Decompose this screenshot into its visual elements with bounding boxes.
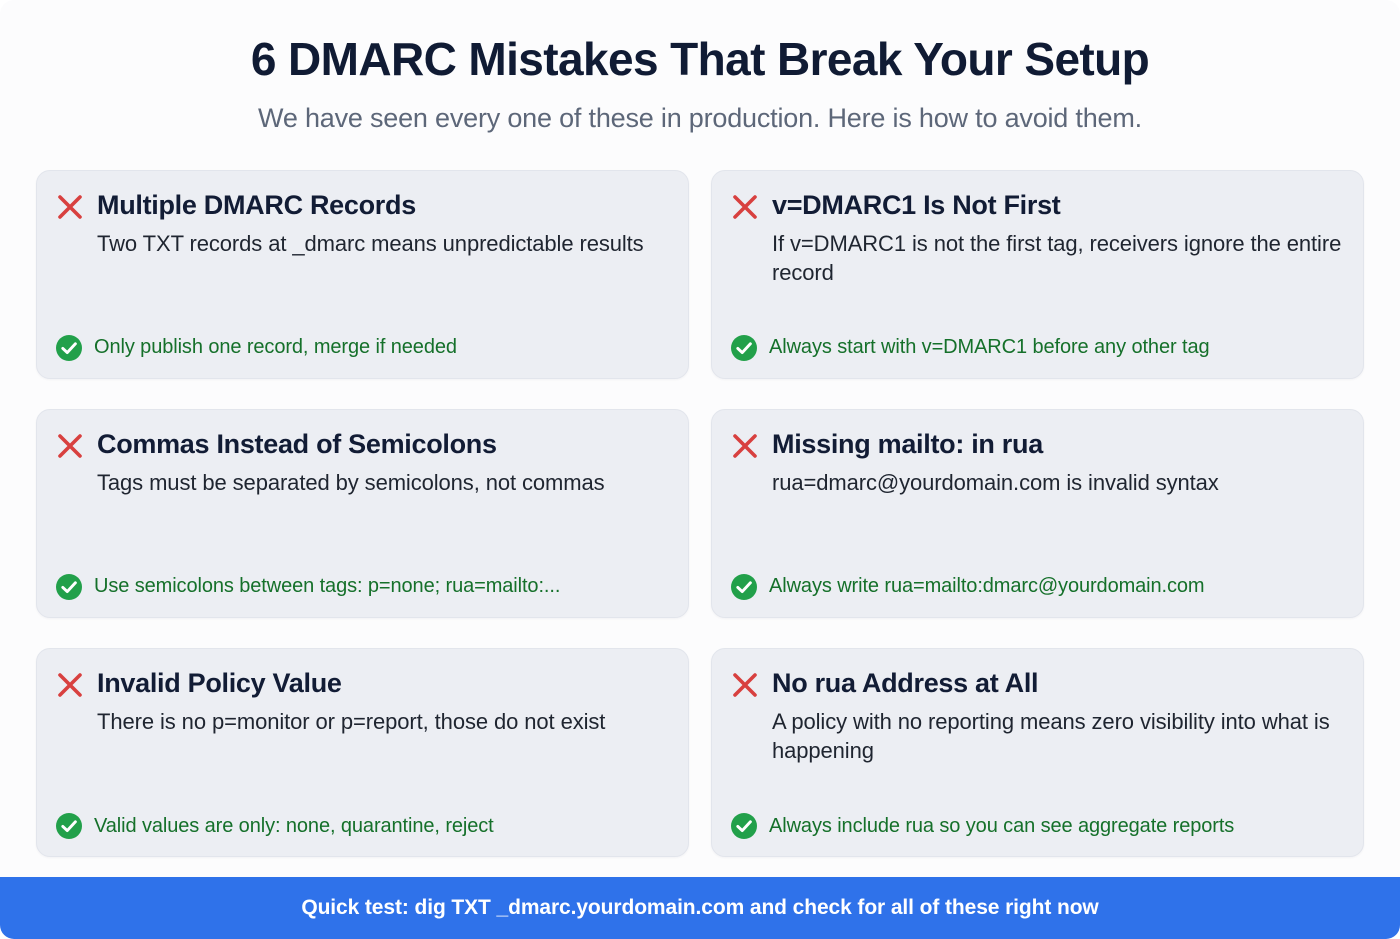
check-circle-icon	[55, 573, 83, 601]
card-description: There is no p=monitor or p=report, those…	[97, 707, 668, 736]
header: 6 DMARC Mistakes That Break Your Setup W…	[0, 0, 1400, 134]
infographic-page: 6 DMARC Mistakes That Break Your Setup W…	[0, 0, 1400, 939]
check-circle-icon	[730, 573, 758, 601]
card-fix: Only publish one record, merge if needed	[55, 320, 668, 362]
x-mark-icon	[730, 192, 760, 222]
mistakes-grid: Multiple DMARC Records Two TXT records a…	[0, 134, 1400, 877]
card-fix-text: Use semicolons between tags: p=none; rua…	[94, 574, 560, 599]
page-subtitle: We have seen every one of these in produ…	[40, 102, 1360, 134]
mistake-card: Missing mailto: in rua rua=dmarc@yourdom…	[711, 409, 1364, 618]
card-description: If v=DMARC1 is not the first tag, receiv…	[772, 229, 1343, 288]
page-title: 6 DMARC Mistakes That Break Your Setup	[40, 34, 1360, 86]
card-title: Commas Instead of Semicolons	[97, 428, 497, 460]
x-mark-icon	[55, 670, 85, 700]
x-mark-icon	[730, 431, 760, 461]
check-circle-icon	[730, 334, 758, 362]
x-mark-icon	[55, 192, 85, 222]
card-fix-text: Always start with v=DMARC1 before any ot…	[769, 335, 1210, 360]
quick-test-banner-text: Quick test: dig TXT _dmarc.yourdomain.co…	[301, 896, 1098, 920]
check-circle-icon	[55, 334, 83, 362]
card-fix: Use semicolons between tags: p=none; rua…	[55, 559, 668, 601]
card-title: Invalid Policy Value	[97, 667, 342, 699]
card-header: Missing mailto: in rua	[730, 428, 1343, 461]
quick-test-banner: Quick test: dig TXT _dmarc.yourdomain.co…	[0, 877, 1400, 939]
card-fix: Always write rua=mailto:dmarc@yourdomain…	[730, 559, 1343, 601]
check-circle-icon	[730, 812, 758, 840]
card-fix-text: Always include rua so you can see aggreg…	[769, 814, 1234, 839]
card-title: Missing mailto: in rua	[772, 428, 1043, 460]
card-description: Tags must be separated by semicolons, no…	[97, 468, 668, 497]
card-fix: Always start with v=DMARC1 before any ot…	[730, 320, 1343, 362]
card-description: rua=dmarc@yourdomain.com is invalid synt…	[772, 468, 1343, 497]
card-title: Multiple DMARC Records	[97, 189, 416, 221]
card-fix-text: Only publish one record, merge if needed	[94, 335, 457, 360]
card-header: No rua Address at All	[730, 667, 1343, 700]
card-header: v=DMARC1 Is Not First	[730, 189, 1343, 222]
card-header: Invalid Policy Value	[55, 667, 668, 700]
card-description: A policy with no reporting means zero vi…	[772, 707, 1343, 766]
card-description: Two TXT records at _dmarc means unpredic…	[97, 229, 668, 258]
mistake-card: Multiple DMARC Records Two TXT records a…	[36, 170, 689, 379]
card-fix-text: Valid values are only: none, quarantine,…	[94, 814, 494, 839]
card-fix: Always include rua so you can see aggreg…	[730, 798, 1343, 840]
x-mark-icon	[730, 670, 760, 700]
card-fix-text: Always write rua=mailto:dmarc@yourdomain…	[769, 574, 1205, 599]
card-title: v=DMARC1 Is Not First	[772, 189, 1061, 221]
x-mark-icon	[55, 431, 85, 461]
mistake-card: Invalid Policy Value There is no p=monit…	[36, 648, 689, 857]
card-header: Multiple DMARC Records	[55, 189, 668, 222]
card-header: Commas Instead of Semicolons	[55, 428, 668, 461]
card-fix: Valid values are only: none, quarantine,…	[55, 798, 668, 840]
mistake-card: Commas Instead of Semicolons Tags must b…	[36, 409, 689, 618]
mistake-card: v=DMARC1 Is Not First If v=DMARC1 is not…	[711, 170, 1364, 379]
check-circle-icon	[55, 812, 83, 840]
card-title: No rua Address at All	[772, 667, 1038, 699]
mistake-card: No rua Address at All A policy with no r…	[711, 648, 1364, 857]
